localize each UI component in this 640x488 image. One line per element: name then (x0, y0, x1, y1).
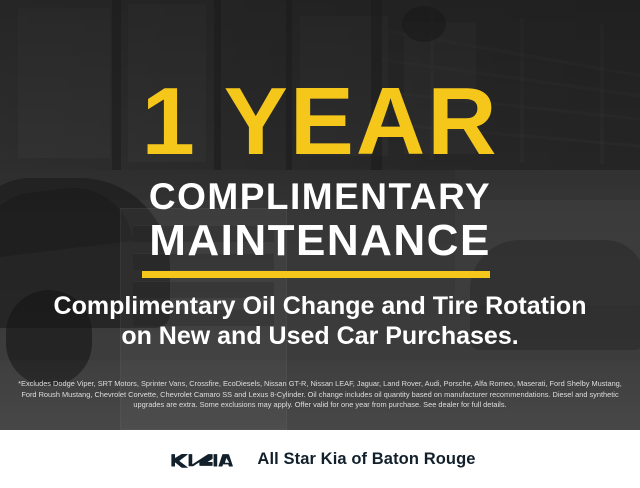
subheadline-line-1: Complimentary Oil Change and Tire Rotati… (0, 292, 640, 321)
headline-complimentary: COMPLIMENTARY (0, 178, 640, 215)
footer-bar: All Star Kia of Baton Rouge (0, 430, 640, 488)
subheadline-line-2: on New and Used Car Purchases. (0, 322, 640, 351)
banner-copy: 1 YEAR COMPLIMENTARY MAINTENANCE Complim… (0, 0, 640, 430)
dealer-name-text: All Star Kia of Baton Rouge (257, 450, 475, 469)
disclaimer-text: *Excludes Dodge Viper, SRT Motors, Sprin… (14, 379, 626, 411)
accent-divider-rule (142, 271, 490, 278)
dealer-logo-lockup: All Star Kia of Baton Rouge (164, 449, 475, 469)
headline-year: 1 YEAR (0, 74, 640, 170)
kia-logo-icon (164, 449, 236, 469)
promotional-banner: 1 YEAR COMPLIMENTARY MAINTENANCE Complim… (0, 0, 640, 488)
headline-maintenance: MAINTENANCE (0, 219, 640, 263)
